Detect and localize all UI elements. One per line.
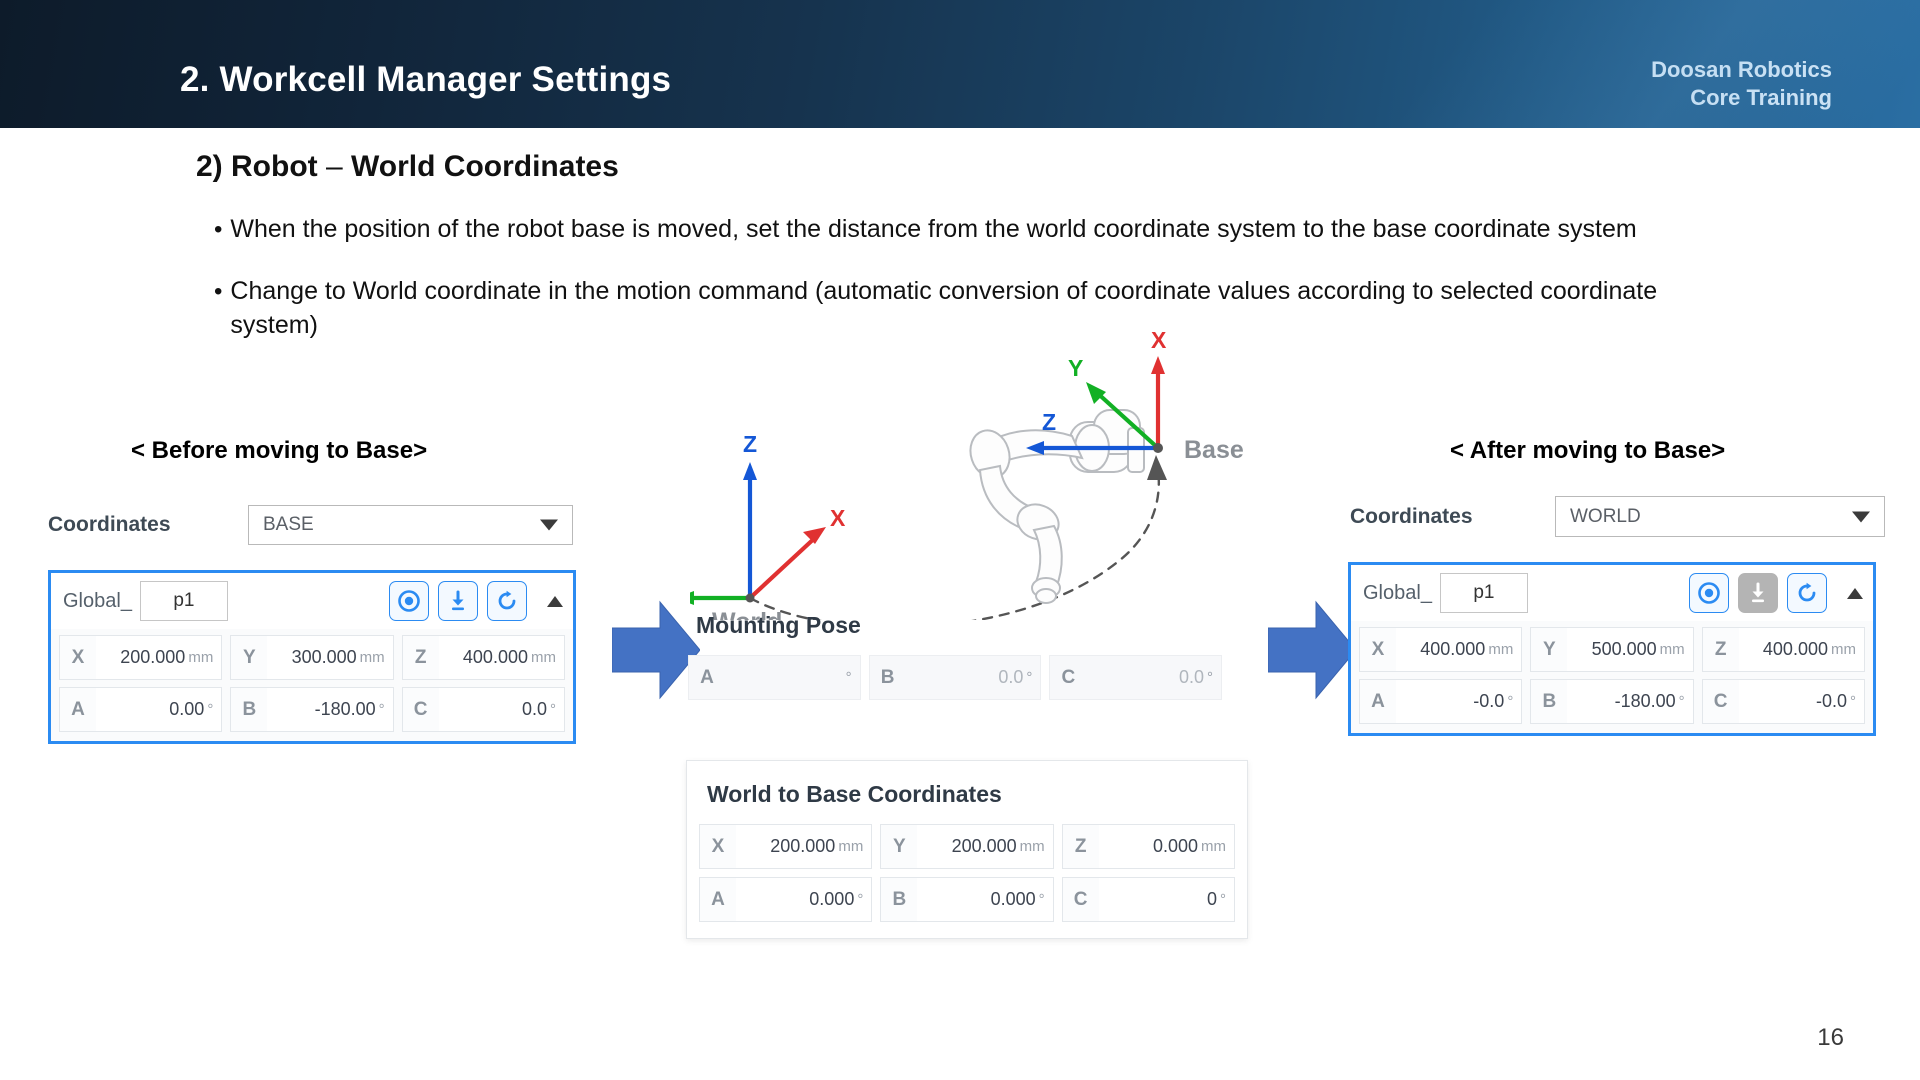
w2b-field-a-value: 0.000	[809, 889, 854, 910]
w2b-field-a-key: A	[700, 889, 736, 911]
w2b-field-y-value-wrap: 200.000 mm	[917, 825, 1052, 868]
before-pose-grid: X 200.000 mm Y 300.000 mm Z 4	[51, 629, 573, 741]
w2b-field-c-unit: °	[1220, 891, 1226, 908]
field-c-key: C	[403, 699, 439, 721]
mounting-field-c-unit: °	[1207, 669, 1213, 686]
field-a-value-wrap: -0.0 °	[1396, 680, 1521, 723]
field-a-key: A	[60, 699, 96, 721]
field-a-unit: °	[207, 701, 213, 718]
after-caption: < After moving to Base>	[1450, 437, 1725, 465]
field-c-unit: °	[550, 701, 556, 718]
svg-text:Base: Base	[1184, 436, 1244, 464]
after-pose-panel: Global_ p1	[1348, 562, 1876, 736]
field-x-value: 400.000	[1420, 639, 1485, 660]
mounting-field-a-value-wrap: °	[725, 656, 860, 699]
w2b-field-x[interactable]: X 200.000 mm	[699, 824, 872, 869]
w2b-field-b-unit: °	[1039, 891, 1045, 908]
before-caption: < Before moving to Base>	[131, 437, 427, 465]
mounting-pose-title: Mounting Pose	[696, 612, 861, 639]
w2b-field-b[interactable]: B 0.000 °	[880, 877, 1053, 922]
w2b-field-x-key: X	[700, 836, 736, 858]
svg-text:X: X	[830, 505, 846, 531]
after-pose-grid: X 400.000 mm Y 500.000 mm Z 4	[1351, 621, 1873, 733]
target-icon[interactable]	[1689, 573, 1729, 613]
slide-header: 2. Workcell Manager Settings Doosan Robo…	[0, 0, 1920, 128]
field-y-unit: mm	[1660, 641, 1685, 658]
field-b-unit: °	[379, 701, 385, 718]
mounting-field-c-value: 0.0	[1179, 667, 1204, 688]
w2b-field-z[interactable]: Z 0.000 mm	[1062, 824, 1235, 869]
section-title-suffix: World Coordinates	[351, 150, 619, 183]
before-pose-name-value: p1	[173, 590, 194, 612]
field-x[interactable]: X 400.000 mm	[1359, 627, 1522, 672]
target-icon[interactable]	[389, 581, 429, 621]
w2b-field-z-unit: mm	[1201, 838, 1226, 855]
refresh-icon[interactable]	[487, 581, 527, 621]
bullet-dot-icon: •	[214, 274, 222, 304]
svg-text:Y: Y	[1068, 355, 1083, 381]
field-y-unit: mm	[360, 649, 385, 666]
field-y-key: Y	[231, 647, 267, 669]
brand-block: Doosan Robotics Core Training	[1651, 56, 1832, 112]
page-title-number: 2.	[180, 60, 210, 99]
field-a-key: A	[1360, 691, 1396, 713]
mounting-field-b-key: B	[870, 667, 906, 689]
w2b-field-y[interactable]: Y 200.000 mm	[880, 824, 1053, 869]
page-title-text: Workcell Manager Settings	[220, 60, 672, 99]
field-y-value-wrap: 500.000 mm	[1567, 628, 1692, 671]
field-c[interactable]: C 0.0 °	[402, 687, 565, 732]
field-z[interactable]: Z 400.000 mm	[402, 635, 565, 680]
field-b-key: B	[231, 699, 267, 721]
field-y-value-wrap: 300.000 mm	[267, 636, 392, 679]
field-b[interactable]: B -180.00 °	[230, 687, 393, 732]
field-c-unit: °	[1850, 693, 1856, 710]
mounting-field-b[interactable]: B 0.0 °	[869, 655, 1042, 700]
field-z-unit: mm	[531, 649, 556, 666]
w2b-field-z-key: Z	[1063, 836, 1099, 858]
world-to-base-card: World to Base Coordinates X 200.000 mm Y…	[686, 760, 1248, 939]
field-c-value: -0.0	[1816, 691, 1847, 712]
after-pose-row-abc: A -0.0 ° B -180.00 ° C -0.0	[1359, 679, 1865, 724]
field-c-value: 0.0	[522, 699, 547, 720]
mounting-field-a-unit: °	[846, 669, 852, 686]
world-to-base-row-xyz: X 200.000 mm Y 200.000 mm Z 0	[699, 824, 1235, 869]
w2b-field-y-value: 200.000	[952, 836, 1017, 857]
before-pose-name-input[interactable]: p1	[140, 581, 228, 621]
field-b[interactable]: B -180.00 °	[1530, 679, 1693, 724]
w2b-field-c-value: 0	[1207, 889, 1217, 910]
chevron-up-icon[interactable]	[547, 596, 563, 607]
page-title: 2. Workcell Manager Settings	[180, 60, 671, 100]
world-to-base-title: World to Base Coordinates	[687, 761, 1247, 824]
world-to-base-grid: X 200.000 mm Y 200.000 mm Z 0	[687, 824, 1247, 938]
field-c-key: C	[1703, 691, 1739, 713]
after-pose-actions	[1689, 573, 1863, 613]
field-y[interactable]: Y 300.000 mm	[230, 635, 393, 680]
svg-text:X: X	[1151, 330, 1167, 353]
field-z-value-wrap: 400.000 mm	[439, 636, 564, 679]
bullet-dot-icon: •	[214, 212, 222, 242]
field-c-value-wrap: 0.0 °	[439, 688, 564, 731]
flow-arrow-right-icon	[612, 598, 700, 702]
w2b-field-x-value-wrap: 200.000 mm	[736, 825, 871, 868]
mounting-field-b-unit: °	[1026, 669, 1032, 686]
w2b-field-a-unit: °	[857, 891, 863, 908]
w2b-field-b-value: 0.000	[991, 889, 1036, 910]
before-coordinates-row: Coordinates BASE	[48, 505, 573, 545]
field-x-value: 200.000	[120, 647, 185, 668]
section-title-prefix: 2) Robot	[196, 150, 318, 183]
w2b-field-c-value-wrap: 0 °	[1099, 878, 1234, 921]
field-c[interactable]: C -0.0 °	[1702, 679, 1865, 724]
after-global-label: Global_	[1363, 582, 1432, 605]
field-a[interactable]: A 0.00 °	[59, 687, 222, 732]
field-x-value-wrap: 200.000 mm	[96, 636, 221, 679]
field-x-value-wrap: 400.000 mm	[1396, 628, 1521, 671]
field-z[interactable]: Z 400.000 mm	[1702, 627, 1865, 672]
mounting-field-a-key: A	[689, 667, 725, 689]
field-x-key: X	[1360, 639, 1396, 661]
chevron-up-icon[interactable]	[1847, 588, 1863, 599]
mounting-pose-grid: A ° B 0.0 ° C 0.0 °	[688, 655, 1222, 708]
field-y-key: Y	[1531, 639, 1567, 661]
w2b-field-a-value-wrap: 0.000 °	[736, 878, 871, 921]
after-pose-name-input[interactable]: p1	[1440, 573, 1528, 613]
after-coordinates-label: Coordinates	[1350, 505, 1555, 529]
coordinate-frames-diagram: Z X Y World	[690, 330, 1270, 620]
w2b-field-y-key: Y	[881, 836, 917, 858]
mounting-field-c-value-wrap: 0.0 °	[1086, 656, 1221, 699]
after-coordinates-row: Coordinates WORLD	[1350, 496, 1885, 537]
after-coordinate-system-select[interactable]: WORLD	[1555, 496, 1885, 537]
field-z-key: Z	[403, 647, 439, 669]
field-b-value-wrap: -180.00 °	[267, 688, 392, 731]
w2b-field-b-value-wrap: 0.000 °	[917, 878, 1052, 921]
before-coordinate-system-value: BASE	[263, 514, 314, 536]
field-c-value-wrap: -0.0 °	[1739, 680, 1864, 723]
w2b-field-z-value-wrap: 0.000 mm	[1099, 825, 1234, 868]
field-b-key: B	[1531, 691, 1567, 713]
field-z-value: 400.000	[1763, 639, 1828, 660]
w2b-field-x-unit: mm	[838, 838, 863, 855]
chevron-down-icon	[540, 520, 558, 531]
before-pose-row-xyz: X 200.000 mm Y 300.000 mm Z 4	[59, 635, 565, 680]
field-z-value: 400.000	[463, 647, 528, 668]
field-x-unit: mm	[1488, 641, 1513, 658]
mounting-field-b-value: 0.0	[998, 667, 1023, 688]
slide-root: 2. Workcell Manager Settings Doosan Robo…	[0, 0, 1920, 1080]
before-global-label: Global_	[63, 590, 132, 613]
page-number: 16	[1817, 1024, 1844, 1052]
field-z-value-wrap: 400.000 mm	[1739, 628, 1864, 671]
mounting-field-c-key: C	[1050, 667, 1086, 689]
robot-arm-illustration	[965, 410, 1144, 603]
w2b-field-y-unit: mm	[1020, 838, 1045, 855]
field-a-value-wrap: 0.00 °	[96, 688, 221, 731]
field-b-unit: °	[1679, 693, 1685, 710]
before-pose-panel: Global_ p1	[48, 570, 576, 744]
after-pose-name-value: p1	[1473, 582, 1494, 604]
field-x[interactable]: X 200.000 mm	[59, 635, 222, 680]
field-z-key: Z	[1703, 639, 1739, 661]
save-icon[interactable]	[438, 581, 478, 621]
field-z-unit: mm	[1831, 641, 1856, 658]
field-x-unit: mm	[188, 649, 213, 666]
field-y-value: 300.000	[292, 647, 357, 668]
field-a-value: -0.0	[1473, 691, 1504, 712]
world-to-base-row-abc: A 0.000 ° B 0.000 ° C 0	[699, 877, 1235, 922]
w2b-field-b-key: B	[881, 889, 917, 911]
before-coordinate-system-select[interactable]: BASE	[248, 505, 573, 545]
w2b-field-x-value: 200.000	[770, 836, 835, 857]
field-a-unit: °	[1507, 693, 1513, 710]
before-pose-row-abc: A 0.00 ° B -180.00 ° C 0.0	[59, 687, 565, 732]
save-icon	[1738, 573, 1778, 613]
before-pose-actions	[389, 581, 563, 621]
w2b-field-z-value: 0.000	[1153, 836, 1198, 857]
after-coordinate-system-value: WORLD	[1570, 506, 1641, 528]
w2b-field-c-key: C	[1063, 889, 1099, 911]
before-coordinates-label: Coordinates	[48, 513, 248, 537]
mounting-field-b-value-wrap: 0.0 °	[906, 656, 1041, 699]
mounting-field-c[interactable]: C 0.0 °	[1049, 655, 1222, 700]
mounting-field-a[interactable]: A °	[688, 655, 861, 700]
svg-text:Z: Z	[1042, 409, 1056, 435]
chevron-down-icon	[1852, 511, 1870, 522]
field-b-value: -180.00	[1615, 691, 1676, 712]
w2b-field-a[interactable]: A 0.000 °	[699, 877, 872, 922]
field-a[interactable]: A -0.0 °	[1359, 679, 1522, 724]
section-title-dash: –	[326, 150, 343, 183]
bullet-item: • When the position of the robot base is…	[214, 212, 1714, 246]
world-frame: Z X Y World	[690, 431, 846, 620]
field-a-value: 0.00	[169, 699, 204, 720]
field-y-value: 500.000	[1592, 639, 1657, 660]
before-pose-header: Global_ p1	[51, 573, 573, 629]
flow-arrow-right-icon	[1268, 598, 1356, 702]
field-x-key: X	[60, 647, 96, 669]
brand-line-1: Doosan Robotics	[1651, 56, 1832, 84]
after-pose-row-xyz: X 400.000 mm Y 500.000 mm Z 4	[1359, 627, 1865, 672]
brand-line-2: Core Training	[1651, 84, 1832, 112]
field-y[interactable]: Y 500.000 mm	[1530, 627, 1693, 672]
section-title: 2) Robot – World Coordinates	[196, 150, 619, 184]
field-b-value-wrap: -180.00 °	[1567, 680, 1692, 723]
w2b-field-c[interactable]: C 0 °	[1062, 877, 1235, 922]
bullet-text: When the position of the robot base is m…	[230, 212, 1636, 246]
refresh-icon[interactable]	[1787, 573, 1827, 613]
after-pose-header: Global_ p1	[1351, 565, 1873, 621]
field-b-value: -180.00	[315, 699, 376, 720]
svg-text:Z: Z	[743, 431, 757, 457]
mounting-pose-row: A ° B 0.0 ° C 0.0 °	[688, 655, 1222, 700]
